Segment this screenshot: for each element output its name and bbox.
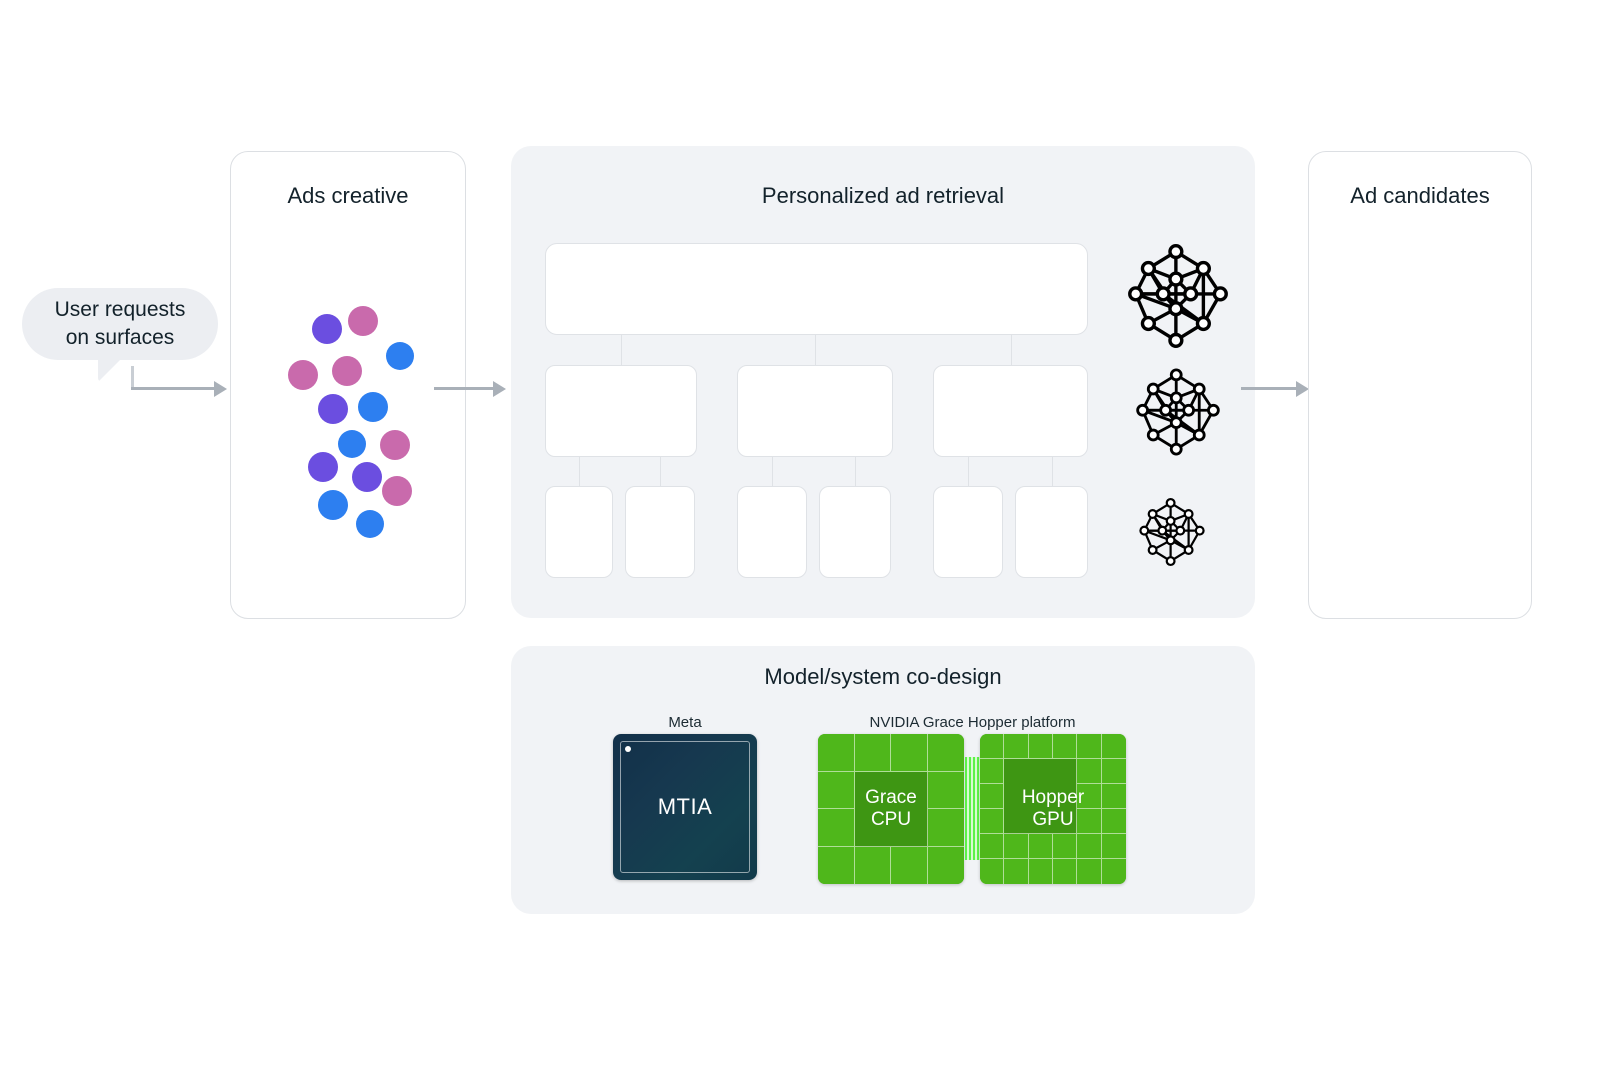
- user-requests-label: User requests on surfaces: [55, 296, 186, 352]
- retrieval-tree-connector: [1011, 335, 1012, 365]
- hopper-gpu-cell: [1102, 734, 1126, 759]
- grace-cpu-cell: [891, 847, 928, 885]
- ads-creative-dot: [352, 462, 382, 492]
- ads-creative-dot: [288, 360, 318, 390]
- arrow-creative-to-retrieval-line: [434, 387, 498, 390]
- mtia-chip-label: MTIA: [658, 794, 713, 820]
- ads-creative-dot: [318, 394, 348, 424]
- retrieval-tree-leaf-node: [737, 486, 807, 578]
- retrieval-tree-mid-node: [545, 365, 697, 457]
- personalized-ad-retrieval-title: Personalized ad retrieval: [511, 182, 1255, 210]
- ads-creative-dot: [332, 356, 362, 386]
- hopper-gpu-cell: [1029, 734, 1053, 759]
- retrieval-tree-connector: [855, 457, 856, 486]
- ads-creative-dot: [338, 430, 366, 458]
- grace-cpu-label: Grace CPU: [865, 787, 917, 831]
- retrieval-tree-connector: [968, 457, 969, 486]
- hopper-gpu-cell: [1004, 734, 1028, 759]
- ads-creative-dot: [308, 452, 338, 482]
- ads-creative-dot-cluster: [270, 300, 430, 540]
- arrow-retrieval-to-candidates-line: [1241, 387, 1301, 390]
- grace-cpu-cell: [928, 734, 965, 772]
- ads-creative-dot: [348, 306, 378, 336]
- ads-creative-dot: [386, 342, 414, 370]
- hopper-gpu-cell: [1102, 759, 1126, 784]
- arrow-request-to-creative-head: [214, 381, 227, 397]
- hopper-gpu-cell: [1102, 809, 1126, 834]
- ads-creative-dot: [312, 314, 342, 344]
- diagram-canvas: User requests on surfaces Ads creative P…: [0, 0, 1600, 1066]
- retrieval-tree-leaf-node: [625, 486, 695, 578]
- retrieval-tree-leaf-node: [545, 486, 613, 578]
- hopper-gpu-label: Hopper GPU: [1022, 787, 1084, 831]
- hopper-gpu-cell: [980, 834, 1004, 859]
- hopper-gpu-cell: [980, 784, 1004, 809]
- neural-network-icon-small: [1136, 496, 1208, 568]
- grace-cpu-cell: [818, 847, 855, 885]
- neural-network-icon-medium: [1132, 366, 1224, 458]
- neural-network-icon-large: [1123, 241, 1233, 351]
- hopper-gpu-cell: [980, 734, 1004, 759]
- hopper-gpu-cell: [1053, 734, 1077, 759]
- retrieval-tree-connector: [772, 457, 773, 486]
- arrow-request-to-creative-line: [131, 387, 219, 390]
- ads-creative-dot: [382, 476, 412, 506]
- grace-cpu-label-wrap: Grace CPU: [854, 771, 928, 847]
- retrieval-tree-connector: [815, 335, 816, 365]
- codesign-title: Model/system co-design: [511, 663, 1255, 691]
- grace-cpu-cell: [818, 734, 855, 772]
- hopper-gpu-cell: [1102, 834, 1126, 859]
- grace-cpu-cell: [891, 734, 928, 772]
- retrieval-tree-leaf-node: [1015, 486, 1088, 578]
- hopper-gpu-cell: [980, 809, 1004, 834]
- hopper-gpu-cell: [980, 759, 1004, 784]
- retrieval-tree-connector: [579, 457, 580, 486]
- nvidia-platform-label: NVIDIA Grace Hopper platform: [820, 713, 1125, 732]
- ad-candidates-title: Ad candidates: [1308, 182, 1532, 210]
- hopper-gpu-cell: [1102, 784, 1126, 809]
- grace-cpu-cell: [818, 772, 855, 810]
- grace-cpu-cell: [928, 809, 965, 847]
- grace-cpu-cell: [928, 847, 965, 885]
- hopper-gpu-cell: [1004, 859, 1028, 884]
- retrieval-tree-connector: [1052, 457, 1053, 486]
- hopper-gpu-cell: [1077, 734, 1101, 759]
- hopper-gpu-cell: [1053, 859, 1077, 884]
- hopper-gpu-cell: [1077, 859, 1101, 884]
- grace-cpu-cell: [818, 809, 855, 847]
- hopper-gpu-label-wrap: Hopper GPU: [1004, 759, 1102, 859]
- mtia-chip: MTIA: [613, 734, 757, 880]
- retrieval-tree: [545, 243, 1088, 578]
- retrieval-tree-connector: [621, 335, 622, 365]
- grace-cpu-cell: [855, 734, 892, 772]
- hopper-gpu-cell: [1029, 859, 1053, 884]
- hopper-gpu-cell: [980, 859, 1004, 884]
- retrieval-tree-mid-node: [737, 365, 893, 457]
- ads-creative-dot: [356, 510, 384, 538]
- ads-creative-dot: [318, 490, 348, 520]
- retrieval-tree-connector: [660, 457, 661, 486]
- grace-cpu-cell: [928, 772, 965, 810]
- hopper-gpu-cell: [1102, 859, 1126, 884]
- retrieval-tree-mid-node: [933, 365, 1088, 457]
- meta-vendor-label: Meta: [613, 713, 757, 732]
- arrow-creative-to-retrieval-head: [493, 381, 506, 397]
- ads-creative-dot: [358, 392, 388, 422]
- ads-creative-dot: [380, 430, 410, 460]
- retrieval-tree-leaf-node: [819, 486, 891, 578]
- mtia-orientation-dot-icon: [625, 746, 631, 752]
- ad-candidates-panel: [1308, 151, 1532, 619]
- retrieval-tree-root-node: [545, 243, 1088, 335]
- mtia-chip-inner-border: MTIA: [620, 741, 750, 873]
- ads-creative-title: Ads creative: [230, 182, 466, 210]
- user-requests-bubble: User requests on surfaces: [22, 288, 218, 360]
- grace-cpu-cell: [855, 847, 892, 885]
- retrieval-tree-leaf-node: [933, 486, 1003, 578]
